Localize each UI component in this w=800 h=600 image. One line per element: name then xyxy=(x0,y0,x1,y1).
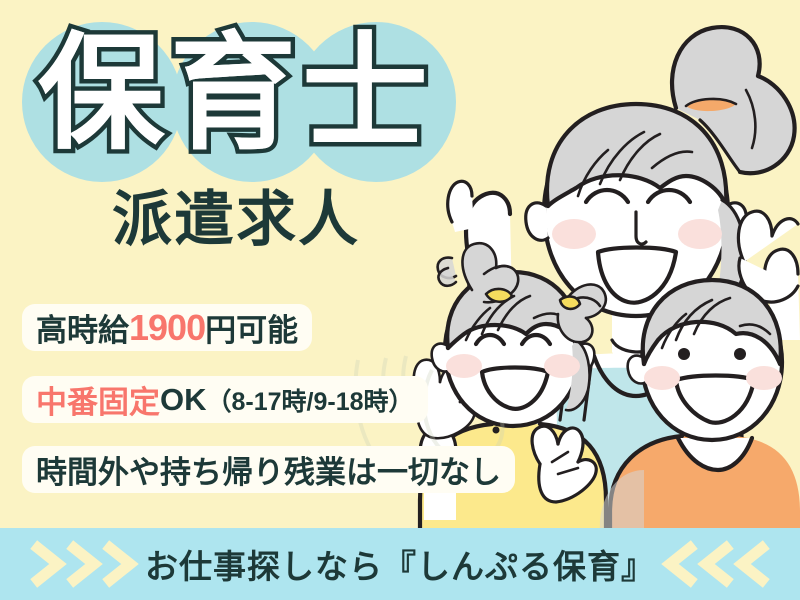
feature-pill-wage: 高時給1900円可能 xyxy=(22,304,312,351)
feature-text-suffix: 円可能 xyxy=(205,305,298,350)
feature-shift-ok: OK xyxy=(160,382,207,418)
page-title: 保育士 xyxy=(38,31,434,157)
chevrons-right-pointing xyxy=(30,538,150,590)
feature-shift-highlight: 中番固定 xyxy=(36,377,160,422)
page-subtitle: 派遣求人 xyxy=(112,190,360,250)
feature-pill-overtime: 時間外や持ち帰り残業は一切なし xyxy=(22,446,515,493)
job-ad-banner: .ol{fill:none;stroke:#231F20;stroke-widt… xyxy=(0,0,800,600)
feature-pill-shift: 中番固定OK（8-17時/9-18時） xyxy=(22,376,428,423)
feature-wage-amount: 1900 xyxy=(129,307,205,349)
bottom-cta-text: お仕事探しなら『しんぷる保育』 xyxy=(145,540,655,588)
feature-shift-hours: （8-17時/9-18時） xyxy=(207,382,414,418)
feature-overtime-text: 時間外や持ち帰り残業は一切なし xyxy=(36,447,501,492)
feature-text-prefix: 高時給 xyxy=(36,305,129,350)
chevrons-left-pointing xyxy=(650,538,770,590)
